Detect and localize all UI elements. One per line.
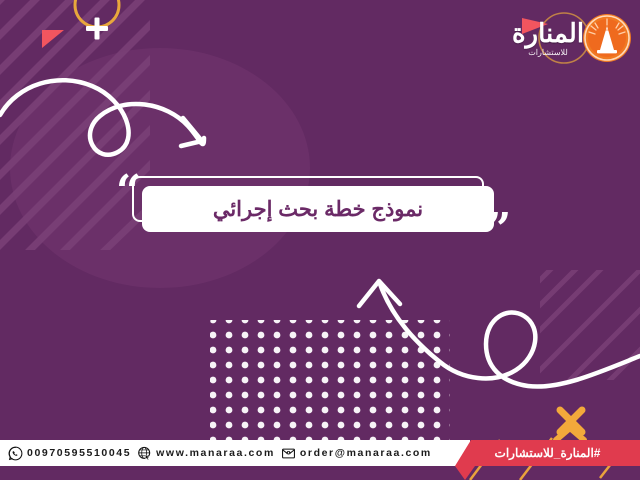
logo-brand-text: المنارة bbox=[506, 20, 590, 46]
contact-footer: 00970595510045 www.manaraa.com bbox=[0, 440, 640, 466]
background-decoration-layer bbox=[0, 0, 640, 480]
contact-bar: 00970595510045 www.manaraa.com bbox=[0, 440, 470, 466]
contact-phone[interactable]: 00970595510045 bbox=[8, 446, 131, 461]
globe-icon bbox=[137, 446, 152, 461]
whatsapp-icon bbox=[8, 446, 23, 461]
hashtag-banner: #المنارة_للاستشارات bbox=[455, 440, 640, 466]
page-title: نموذج خطة بحث إجرائي bbox=[213, 199, 423, 220]
title-block: نموذج خطة بحث إجرائي “ ” bbox=[142, 186, 494, 232]
envelope-icon bbox=[281, 446, 296, 461]
quote-close-mark: ” bbox=[486, 208, 511, 252]
lighthouse-emblem bbox=[583, 14, 631, 62]
contact-email[interactable]: order@manaraa.com bbox=[281, 446, 432, 461]
logo-wordmark: المنارة للاستشارات bbox=[506, 20, 590, 57]
quote-open-mark: “ bbox=[116, 170, 141, 214]
logo-tagline-text: للاستشارات bbox=[506, 48, 590, 57]
title-card: نموذج خطة بحث إجرائي bbox=[142, 186, 494, 232]
brand-logo: المنارة للاستشارات bbox=[504, 8, 632, 70]
hashtag-text: #المنارة_للاستشارات bbox=[495, 446, 601, 460]
phone-number: 00970595510045 bbox=[27, 447, 131, 459]
contact-website[interactable]: www.manaraa.com bbox=[137, 446, 275, 461]
dotted-half-circle bbox=[190, 320, 480, 450]
website-url: www.manaraa.com bbox=[156, 447, 275, 459]
email-address: order@manaraa.com bbox=[300, 447, 432, 459]
poster-canvas: المنارة للاستشارات نموذج خطة بحث إجرائي … bbox=[0, 0, 640, 480]
